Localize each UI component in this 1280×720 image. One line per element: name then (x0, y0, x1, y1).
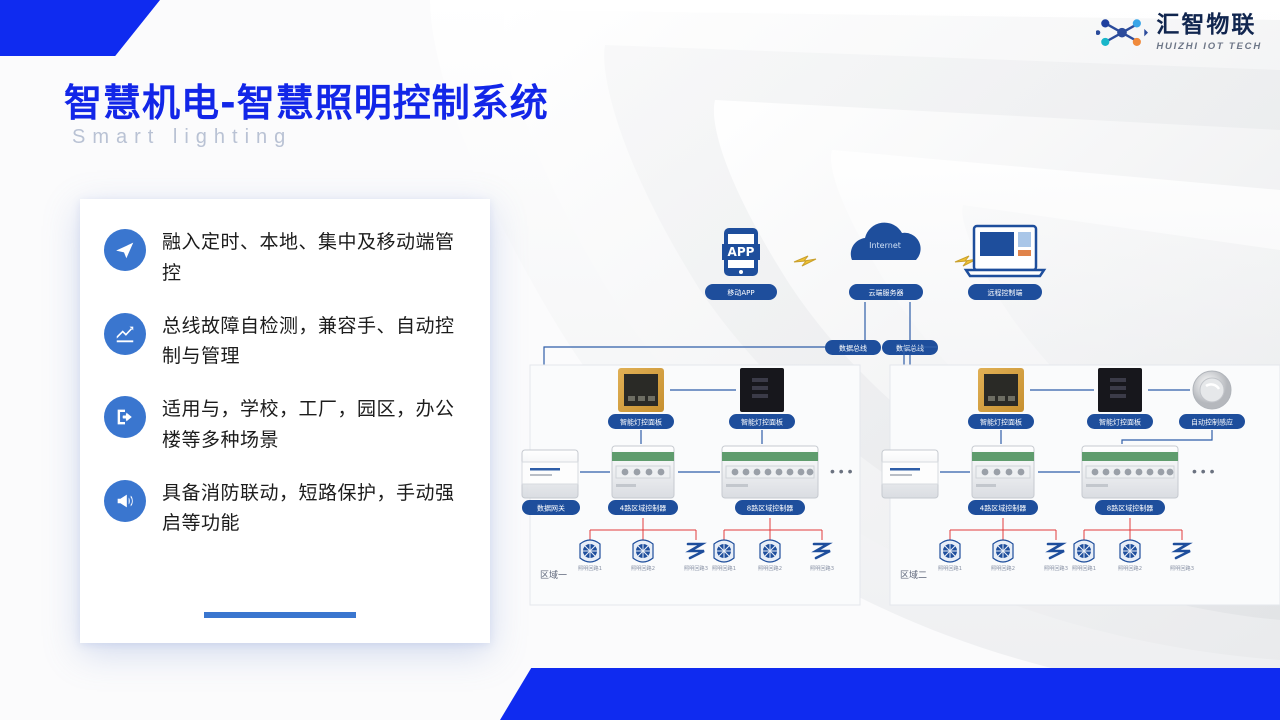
pill-label: 智能灯控面板 (980, 418, 1022, 427)
pill-label: 远程控制端 (988, 288, 1023, 297)
load-label: 照明回路1 (578, 564, 602, 572)
feature-text: 融入定时、本地、集中及移动端管控 (162, 227, 466, 289)
feature-text: 总线故障自检测，兼容手、自动控制与管理 (162, 311, 466, 373)
load-label: 照明回路3 (1044, 564, 1068, 572)
card-accent-underline (204, 612, 356, 618)
pill-label: 8路区域控制器 (747, 504, 793, 513)
ceiling-light-icon (714, 540, 734, 562)
pill-remote-terminal: 远程控制端 (968, 284, 1042, 300)
exit-arrow-icon (104, 396, 146, 438)
feature-card: 融入定时、本地、集中及移动端管控 总线故障自检测，兼容手、自动控制与管理 适用与… (80, 199, 490, 643)
ceiling-light-icon (1120, 540, 1140, 562)
load-label: 照明回路2 (991, 564, 1015, 572)
cloud-icon: Internet (851, 223, 921, 260)
ceiling-light-icon (760, 540, 780, 562)
pill-label: 数据网关 (537, 504, 565, 513)
zone-controller-4way (972, 446, 1034, 498)
load-label: 照明回路1 (712, 564, 736, 572)
zone-label: 区域一 (540, 569, 567, 581)
load-label: 照明回路3 (684, 564, 708, 572)
pill-label: 智能灯控面板 (741, 418, 783, 427)
more-indicator: • • • (830, 463, 853, 479)
pill-controller-8way: 8路区域控制器 (1095, 500, 1165, 515)
page-subtitle: Smart lighting (72, 126, 292, 149)
paper-plane-icon (104, 229, 146, 271)
pill-smart-panel-2: 智能灯控面板 (729, 414, 795, 429)
ceiling-light-icon (940, 540, 960, 562)
pill-label: 数据总线 (896, 344, 924, 353)
feature-item: 具备消防联动，短路保护，手动强启等功能 (104, 478, 466, 540)
pill-label: 8路区域控制器 (1107, 504, 1153, 513)
chart-trending-up-icon (104, 313, 146, 355)
smart-light-panel-gold (618, 368, 664, 412)
pill-controller-4way: 4路区域控制器 (968, 500, 1038, 515)
bottom-right-accent-banner (500, 668, 1280, 720)
svg-text:APP: APP (728, 245, 755, 259)
ceiling-light-icon (633, 540, 653, 562)
wireless-signal-icon (794, 256, 816, 266)
mobile-phone-icon: APP (722, 228, 760, 276)
zone-controller-4way (612, 446, 674, 498)
zone-controller-8way (722, 446, 818, 498)
pill-controller-8way: 8路区域控制器 (735, 500, 805, 515)
pill-smart-panel-2: 智能灯控面板 (1087, 414, 1153, 429)
feature-text: 适用与，学校，工厂，园区，办公楼等多种场景 (162, 394, 466, 456)
feature-text: 具备消防联动，短路保护，手动强启等功能 (162, 478, 466, 540)
load-label: 照明回路3 (810, 564, 834, 572)
brand-logo: 汇智物联 HUIZHI IOT TECH (1096, 14, 1262, 52)
feature-item: 融入定时、本地、集中及移动端管控 (104, 227, 466, 289)
pill-cloud-server: 云端服务器 (849, 284, 923, 300)
pill-label: 4路区域控制器 (620, 504, 666, 513)
feature-item: 适用与，学校，工厂，园区，办公楼等多种场景 (104, 394, 466, 456)
zone-label: 区域二 (900, 569, 927, 581)
ceiling-light-icon (993, 540, 1013, 562)
pill-controller-4way: 4路区域控制器 (608, 500, 678, 515)
logo-chinese-name: 汇智物联 (1156, 14, 1262, 37)
data-gateway-device (522, 450, 578, 498)
pill-label: 智能灯控面板 (620, 418, 662, 427)
lighting-system-diagram: APP 移动APP Internet 云端服务器 (500, 200, 1280, 630)
zone-controller-8way (1082, 446, 1178, 498)
smart-light-panel-black (740, 368, 784, 412)
pill-smart-panel-1: 智能灯控面板 (608, 414, 674, 429)
load-label: 照明回路3 (1170, 564, 1194, 572)
ceiling-light-icon (1074, 540, 1094, 562)
cloud-label: Internet (869, 241, 901, 250)
pill-data-gateway: 数据网关 (522, 500, 580, 515)
pill-label: 4路区域控制器 (980, 504, 1026, 513)
pill-label: 云端服务器 (869, 288, 904, 297)
laptop-icon (966, 226, 1044, 276)
megaphone-icon (104, 480, 146, 522)
pill-label: 移动APP (727, 288, 754, 297)
occupancy-sensor-icon (1193, 371, 1231, 409)
pill-label: 数据总线 (839, 344, 867, 353)
logo-english-name: HUIZHI IOT TECH (1156, 42, 1262, 52)
pill-data-bus-left: 数据总线 (825, 340, 881, 355)
page-title: 智慧机电-智慧照明控制系统 (64, 72, 549, 127)
pill-auto-sensor: 自动控制感应 (1179, 414, 1245, 429)
pill-label: 智能灯控面板 (1099, 418, 1141, 427)
pill-label: 自动控制感应 (1191, 418, 1233, 427)
ceiling-light-icon (580, 540, 600, 562)
smart-light-panel-gold (978, 368, 1024, 412)
load-label: 照明回路1 (938, 564, 962, 572)
load-label: 照明回路2 (1118, 564, 1142, 572)
feature-item: 总线故障自检测，兼容手、自动控制与管理 (104, 311, 466, 373)
pill-mobile-app: 移动APP (705, 284, 777, 300)
load-label: 照明回路2 (631, 564, 655, 572)
data-gateway-device (882, 450, 938, 498)
load-label: 照明回路2 (758, 564, 782, 572)
load-label: 照明回路1 (1072, 564, 1096, 572)
smart-light-panel-black (1098, 368, 1142, 412)
molecule-network-icon (1096, 15, 1148, 51)
pill-smart-panel-1: 智能灯控面板 (968, 414, 1034, 429)
more-indicator: • • • (1192, 463, 1215, 479)
